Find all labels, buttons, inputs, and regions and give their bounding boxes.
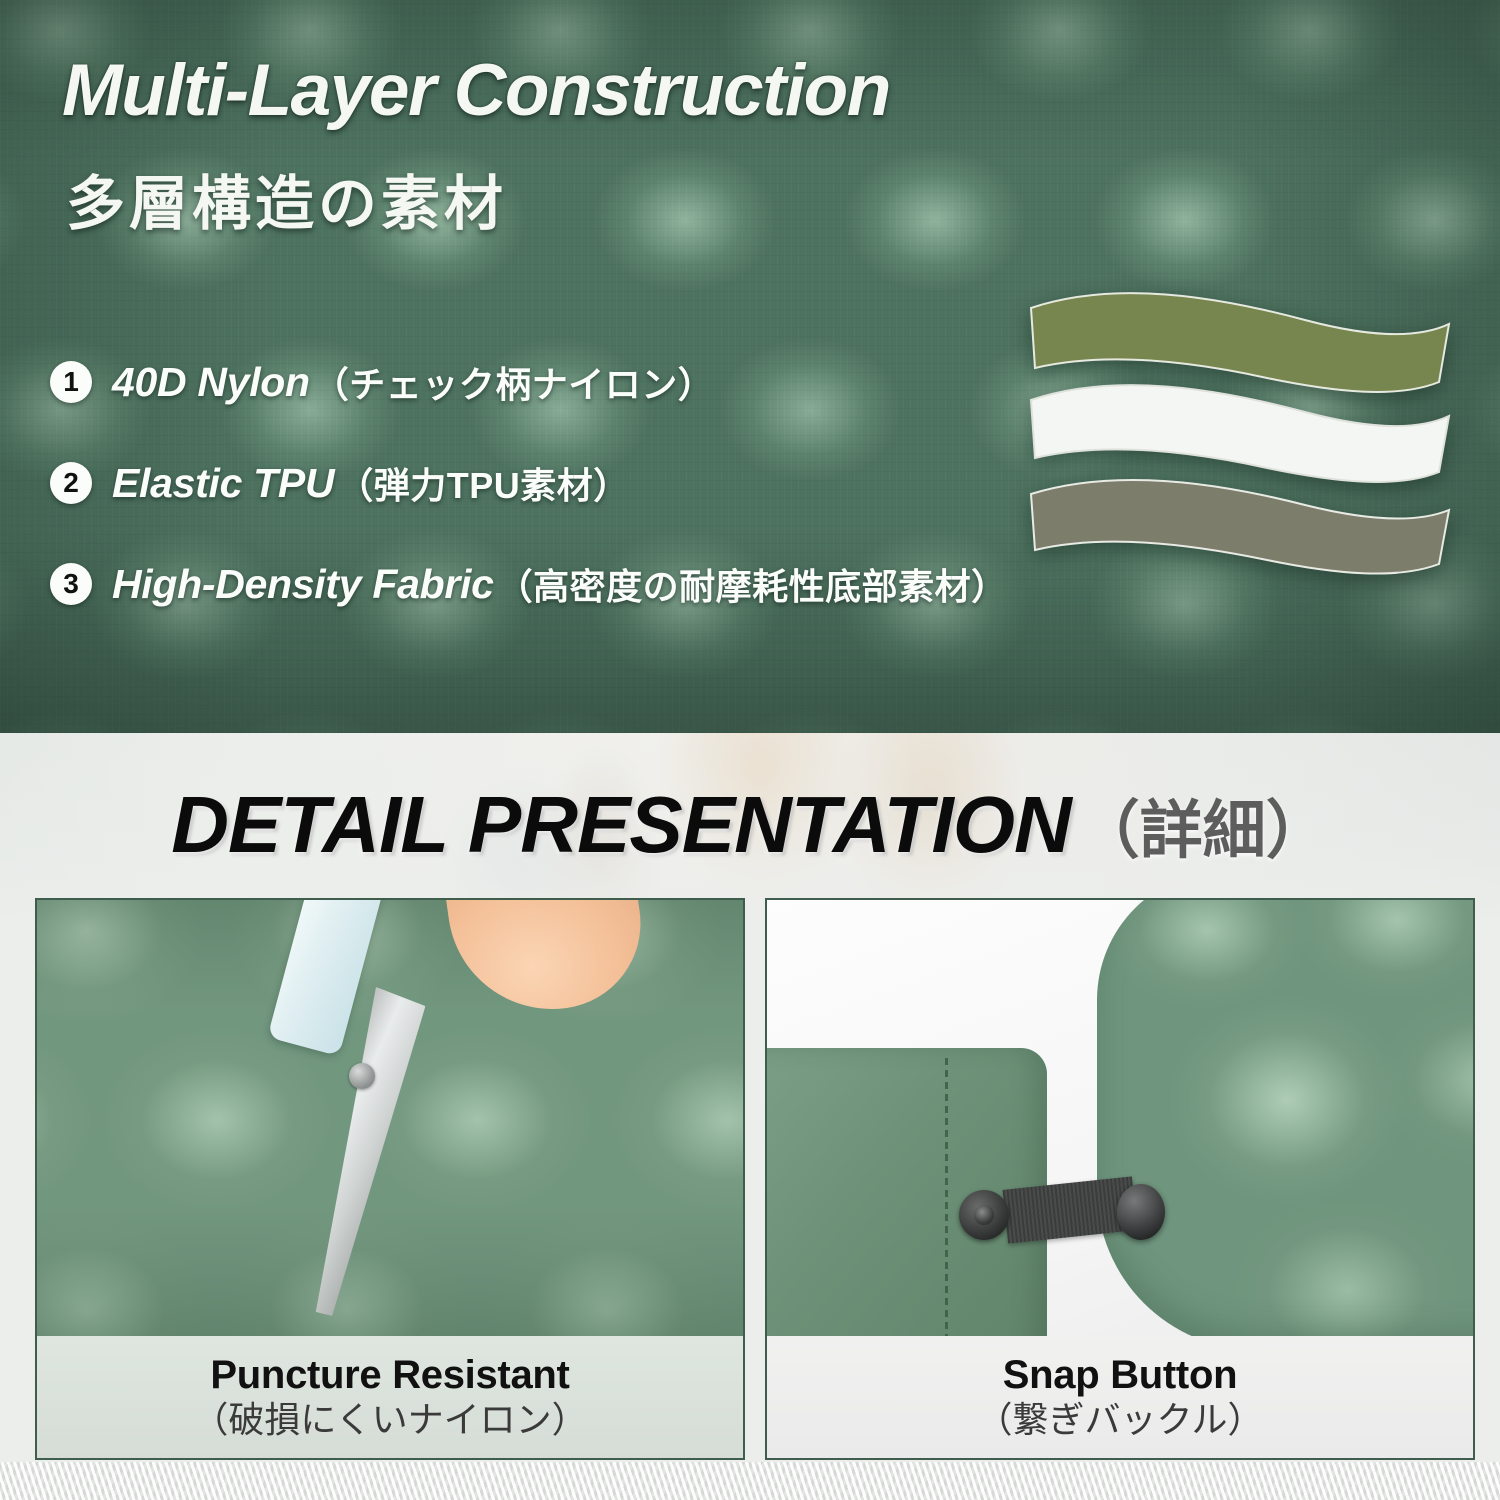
feature-list: 1 40D Nylon （チェック柄ナイロン） 2 Elastic TPU （弾… xyxy=(50,358,1008,608)
snap-button-stud-icon xyxy=(1117,1184,1165,1240)
snap-button-photo xyxy=(767,900,1473,1340)
infographic-page: Multi-Layer Construction 多層構造の素材 1 40D N… xyxy=(0,0,1500,1500)
caption-jp-right: （繋ぎバックル） xyxy=(977,1399,1264,1440)
detail-presentation-heading: DETAIL PRESENTATION（詳細） xyxy=(0,779,1500,871)
layer-sheet-middle-tpu-icon xyxy=(1031,385,1449,482)
feature-label-en-3: High-Density Fabric xyxy=(112,561,494,608)
layer-sheet-bottom-fabric-icon xyxy=(1031,480,1449,574)
feature-label-jp-1: （チェック柄ナイロン） xyxy=(313,356,715,408)
number-badge-3: 3 xyxy=(50,563,92,605)
feature-label-en-2: Elastic TPU xyxy=(112,460,334,507)
page-title: Multi-Layer Construction xyxy=(62,54,890,127)
three-layer-sheets-diagram xyxy=(1005,272,1465,582)
detail-heading-jp: （詳細） xyxy=(1077,796,1329,866)
scissors-pivot-screw-icon xyxy=(349,1063,375,1089)
feature-label-jp-2: （弾力TPU素材） xyxy=(337,457,630,509)
feature-label-en-1: 40D Nylon xyxy=(112,359,310,406)
feature-item-3: 3 High-Density Fabric （高密度の耐摩耗性底部素材） xyxy=(50,560,1008,608)
number-badge-2: 2 xyxy=(50,462,92,504)
layer-sheet-top-nylon-icon xyxy=(1031,293,1449,392)
feature-item-1: 1 40D Nylon （チェック柄ナイロン） xyxy=(50,358,1008,406)
snap-button-socket-icon xyxy=(959,1190,1009,1240)
feature-item-2: 2 Elastic TPU （弾力TPU素材） xyxy=(50,459,1008,507)
right-pad-section xyxy=(1097,900,1473,1340)
multi-layer-construction-section: Multi-Layer Construction 多層構造の素材 1 40D N… xyxy=(0,0,1500,733)
detail-presentation-section: DETAIL PRESENTATION（詳細） Puncture Resista… xyxy=(0,733,1500,1500)
caption-jp-left: （破損にくいナイロン） xyxy=(192,1399,587,1440)
detail-heading-en: DETAIL PRESENTATION xyxy=(171,780,1071,869)
caption-en-right: Snap Button xyxy=(1003,1353,1237,1397)
page-subtitle: 多層構造の素材 xyxy=(66,175,507,234)
caption-snap-button: Snap Button （繋ぎバックル） xyxy=(767,1336,1473,1458)
stitched-seam xyxy=(945,1058,948,1340)
feature-label-jp-3: （高密度の耐摩耗性底部素材） xyxy=(497,558,1008,610)
caption-puncture-resistant: Puncture Resistant （破損にくいナイロン） xyxy=(37,1336,743,1458)
puncture-test-photo xyxy=(37,900,743,1340)
detail-card-snap-button: Snap Button （繋ぎバックル） xyxy=(765,898,1475,1460)
caption-en-left: Puncture Resistant xyxy=(210,1353,569,1397)
detail-card-puncture-resistant: Puncture Resistant （破損にくいナイロン） xyxy=(35,898,745,1460)
number-badge-1: 1 xyxy=(50,361,92,403)
textured-floor-strip xyxy=(0,1462,1500,1500)
